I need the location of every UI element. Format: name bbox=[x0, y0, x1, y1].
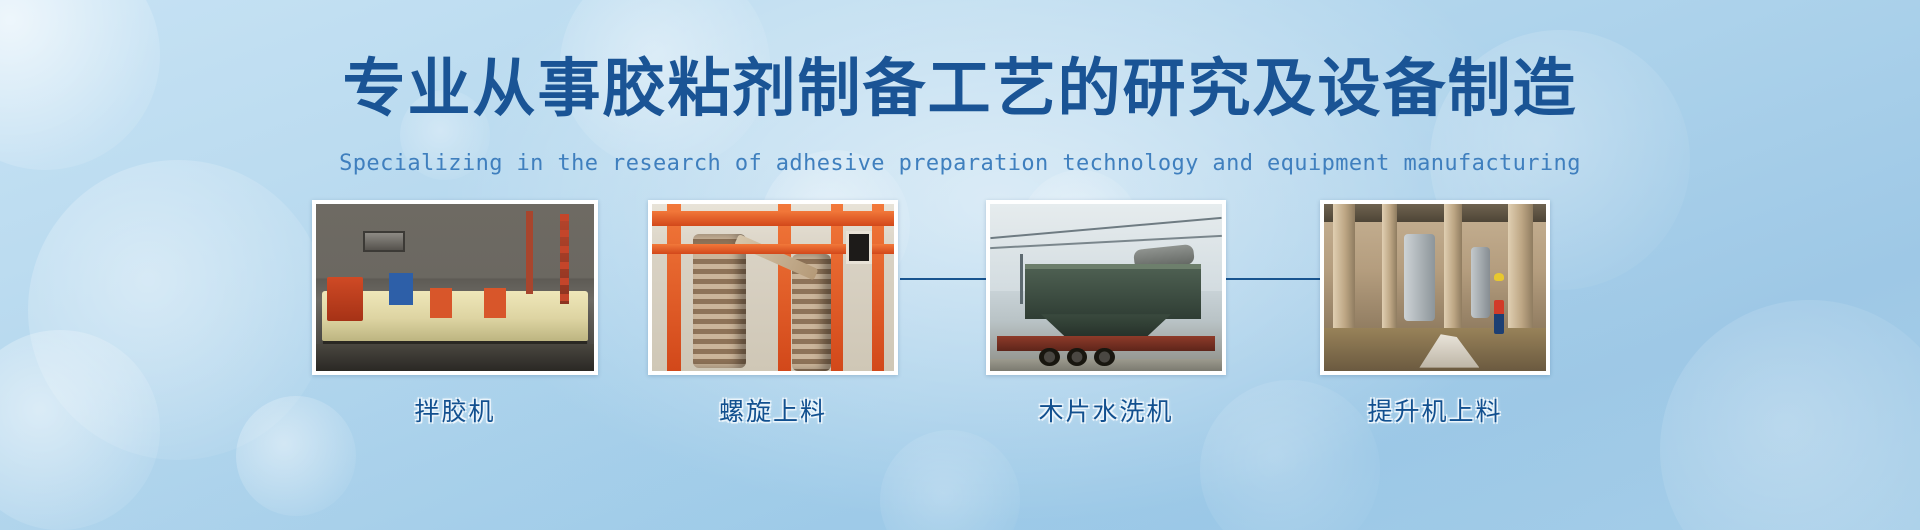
photo-detail bbox=[1404, 234, 1435, 321]
process-flow: 拌胶机 螺旋上料 bbox=[0, 200, 1920, 460]
photo-detail bbox=[526, 211, 533, 295]
process-step-caption: 提升机上料 bbox=[1367, 392, 1502, 428]
process-step[interactable]: 拌胶机 bbox=[312, 200, 598, 375]
photo-detail-worker-helmet bbox=[1494, 273, 1504, 281]
photo-detail bbox=[1382, 204, 1398, 331]
thumbnail-elevator-feeding-system[interactable] bbox=[1320, 200, 1550, 375]
photo-detail bbox=[1471, 247, 1491, 317]
photo-detail bbox=[831, 204, 843, 371]
banner-headline: 专业从事胶粘剂制备工艺的研究及设备制造 bbox=[0, 56, 1920, 122]
photo-detail bbox=[1025, 264, 1201, 319]
photo-detail bbox=[316, 344, 594, 371]
process-step[interactable]: 螺旋上料 bbox=[648, 200, 898, 375]
process-step-caption: 木片水洗机 bbox=[1038, 392, 1173, 428]
connector-line bbox=[1220, 278, 1320, 280]
photo-detail bbox=[846, 231, 873, 264]
process-step-caption: 拌胶机 bbox=[414, 392, 495, 428]
photo-detail bbox=[560, 214, 569, 304]
photo-detail bbox=[667, 204, 682, 371]
photo-detail bbox=[1039, 348, 1060, 366]
thumbnail-spiral-feeding-conveyor[interactable] bbox=[648, 200, 898, 375]
photo-detail bbox=[1444, 204, 1462, 331]
photo-detail-worker bbox=[1494, 300, 1504, 334]
photo-detail bbox=[1020, 254, 1023, 304]
thumbnail-glue-mixer-machine[interactable] bbox=[312, 200, 598, 375]
photo-detail bbox=[1333, 204, 1355, 331]
thumbnail-wood-chip-washing-machine[interactable] bbox=[986, 200, 1226, 375]
photo-detail bbox=[652, 211, 894, 226]
photo-detail bbox=[363, 231, 405, 253]
connector-line bbox=[900, 278, 1000, 280]
photo-detail bbox=[872, 204, 884, 371]
process-step-caption: 螺旋上料 bbox=[719, 392, 827, 428]
process-step[interactable]: 木片水洗机 bbox=[986, 200, 1226, 375]
banner-subtitle: Specializing in the research of adhesive… bbox=[0, 151, 1920, 176]
photo-detail bbox=[1094, 348, 1115, 366]
hero-banner: 专业从事胶粘剂制备工艺的研究及设备制造 Specializing in the … bbox=[0, 0, 1920, 530]
photo-detail bbox=[778, 204, 791, 371]
photo-detail bbox=[1508, 204, 1532, 331]
process-step[interactable]: 提升机上料 bbox=[1320, 200, 1550, 375]
